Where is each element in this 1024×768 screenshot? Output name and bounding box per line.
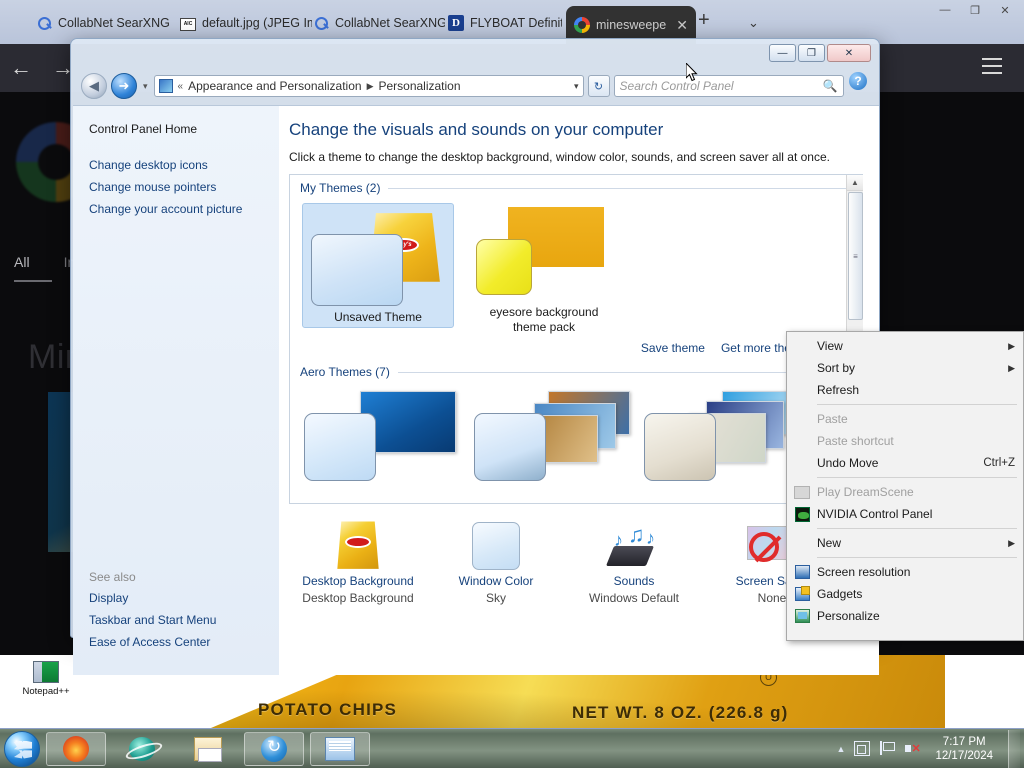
ctx-play-dreamscene: Play DreamScene	[787, 481, 1023, 503]
breadcrumb-personalization[interactable]: Personalization	[378, 79, 460, 93]
ctx-label: Screen resolution	[817, 565, 1015, 579]
see-also-display[interactable]: Display	[89, 591, 279, 605]
aero-themes-header: Aero Themes (7)	[290, 359, 863, 381]
my-themes-header: My Themes (2)	[290, 175, 863, 197]
theme-eyesore[interactable]: eyesore background theme pack	[468, 203, 620, 335]
ctx-label: Personalize	[817, 609, 1015, 623]
ctx-paste: Paste	[787, 408, 1023, 430]
tab-title: FLYBOAT Definition	[470, 16, 562, 30]
desktop-icon-notepadpp[interactable]: Notepad++	[16, 661, 76, 697]
monitor-icon	[787, 562, 817, 582]
screen: CollabNet SearXNG AIC default.jpg (JPEG …	[0, 0, 1024, 768]
search-icon	[313, 15, 329, 31]
my-themes-row: Lay's Unsaved Theme	[290, 197, 863, 335]
no-icon	[787, 409, 817, 429]
ctx-refresh[interactable]: Refresh	[787, 379, 1023, 401]
back-button[interactable]: ◀	[81, 73, 107, 99]
forward-button[interactable]: ➜	[111, 73, 137, 99]
option-value: Desktop Background	[289, 591, 427, 605]
aero-themes-row	[290, 381, 863, 485]
clock[interactable]: 7:17 PM 12/17/2024	[929, 735, 999, 763]
chip-bag-icon	[289, 518, 427, 574]
close-icon[interactable]: ✕	[676, 17, 688, 34]
theme-thumbnail	[468, 203, 620, 303]
window-preview	[476, 239, 532, 295]
no-icon	[787, 358, 817, 378]
nav-change-desktop-icons[interactable]: Change desktop icons	[89, 158, 279, 172]
divider	[398, 372, 853, 373]
ctx-new[interactable]: New ▶	[787, 532, 1023, 554]
no-icon	[787, 380, 817, 400]
ctx-label: New	[817, 536, 1002, 550]
control-panel-icon	[159, 79, 173, 93]
control-panel-icon	[325, 737, 355, 761]
gadgets-icon	[787, 584, 817, 604]
tab-underline	[14, 280, 52, 282]
window-preview	[304, 413, 376, 481]
control-panel-window-controls: — ❐ ✕	[769, 44, 871, 62]
option-window-color[interactable]: Window Color Sky	[427, 518, 565, 605]
maximize-button[interactable]: ❐	[966, 2, 984, 18]
desktop-context-menu: View ▶ Sort by ▶ Refresh Paste Paste sho…	[786, 331, 1024, 641]
theme-actions: Save theme Get more themes online	[290, 335, 863, 359]
new-tab-button[interactable]: +	[698, 12, 710, 28]
taskbar-button-ie[interactable]	[112, 732, 172, 766]
recent-pages-icon[interactable]: ▾	[141, 81, 150, 92]
personalize-icon	[787, 606, 817, 626]
ctx-paste-shortcut: Paste shortcut	[787, 430, 1023, 452]
ctx-label: Refresh	[817, 383, 1015, 397]
aero-themes-label: Aero Themes (7)	[300, 365, 390, 379]
taskbar-button-sync[interactable]	[244, 732, 304, 766]
ctx-screen-resolution[interactable]: Screen resolution	[787, 561, 1023, 583]
scrollbar-thumb[interactable]: ≡	[848, 192, 863, 320]
option-sounds[interactable]: ♪ ♫ ♪ Sounds Windows Default	[565, 518, 703, 605]
ctx-undo-move[interactable]: Undo Move Ctrl+Z	[787, 452, 1023, 474]
taskbar-button-control-panel[interactable]	[310, 732, 370, 766]
minimize-button[interactable]: —	[769, 44, 796, 62]
ctx-label: NVIDIA Control Panel	[817, 507, 1015, 521]
breadcrumb-separator-icon: ▶	[367, 81, 374, 92]
window-preview	[644, 413, 716, 481]
theme-thumbnail: Lay's	[303, 208, 455, 308]
mouse-cursor	[686, 63, 698, 82]
submenu-arrow-icon: ▶	[1008, 538, 1015, 549]
theme-unsaved[interactable]: Lay's Unsaved Theme	[302, 203, 454, 335]
nav-change-account-picture[interactable]: Change your account picture	[89, 202, 279, 216]
aero-theme-windows7[interactable]	[304, 389, 456, 485]
page-subtitle: Click a theme to change the desktop back…	[289, 150, 863, 164]
network-icon[interactable]	[854, 741, 870, 756]
nav-change-mouse-pointers[interactable]: Change mouse pointers	[89, 180, 279, 194]
search-icon: 🔍	[823, 79, 838, 93]
ctx-label: Gadgets	[817, 587, 1015, 601]
no-icon	[787, 431, 817, 451]
tab-all[interactable]: All	[14, 254, 30, 270]
breadcrumb-appearance[interactable]: Appearance and Personalization	[188, 79, 361, 93]
back-icon[interactable]: ←	[0, 57, 42, 79]
option-title[interactable]: Desktop Background	[289, 574, 427, 588]
control-panel-left-nav: Control Panel Home Change desktop icons …	[73, 106, 279, 675]
ctx-label: Paste	[817, 412, 1015, 426]
search-icon	[36, 15, 52, 31]
close-button[interactable]: ✕	[827, 44, 871, 62]
tab-title: minesweeper	[596, 18, 666, 32]
close-button[interactable]: ✕	[996, 2, 1014, 18]
help-icon[interactable]: ?	[849, 72, 867, 90]
notepadpp-icon	[33, 661, 59, 683]
theme-name: eyesore background theme pack	[468, 303, 620, 335]
maximize-button[interactable]: ❐	[798, 44, 825, 62]
theme-name: Unsaved Theme	[303, 308, 453, 325]
see-also-header: See also	[89, 570, 279, 584]
aero-theme-characters[interactable]	[644, 389, 796, 485]
option-value: Windows Default	[565, 591, 703, 605]
nvidia-icon	[787, 504, 817, 524]
submenu-arrow-icon: ▶	[1008, 341, 1015, 352]
see-also-section: See also Display Taskbar and Start Menu …	[89, 570, 279, 657]
save-theme-link[interactable]: Save theme	[641, 341, 705, 355]
system-tray: ▲ 7:17 PM 12/17/2024	[837, 730, 1024, 768]
browser-tab-2[interactable]: AIC default.jpg (JPEG Image)	[172, 8, 320, 38]
search-input[interactable]: Search Control Panel 🔍	[614, 75, 844, 97]
ctx-label: Undo Move	[817, 456, 983, 470]
option-desktop-background[interactable]: Desktop Background Desktop Background	[289, 518, 427, 605]
desktop-icon-label: Notepad++	[21, 686, 70, 697]
start-button[interactable]	[4, 731, 40, 767]
ctx-label: Paste shortcut	[817, 434, 1015, 448]
chevron-down-icon[interactable]: ▾	[574, 81, 579, 92]
wallpaper-product-text: POTATO CHIPS	[258, 700, 397, 720]
tab-title: default.jpg (JPEG Image)	[202, 16, 312, 30]
ctx-sort-by[interactable]: Sort by ▶	[787, 357, 1023, 379]
option-title[interactable]: Sounds	[565, 574, 703, 588]
ctx-nvidia-control-panel[interactable]: NVIDIA Control Panel	[787, 503, 1023, 525]
dictionary-icon: D	[448, 15, 464, 31]
clock-time: 7:17 PM	[935, 735, 993, 749]
window-color-icon	[427, 518, 565, 574]
no-icon	[787, 453, 817, 473]
taskbar: ▲ 7:17 PM 12/17/2024	[0, 728, 1024, 768]
control-panel-content: Control Panel Home Change desktop icons …	[73, 105, 879, 675]
address-bar[interactable]: « Appearance and Personalization ▶ Perso…	[154, 75, 584, 97]
nav-control-panel-home[interactable]: Control Panel Home	[89, 122, 279, 136]
window-preview	[311, 234, 403, 306]
ctx-label: Play DreamScene	[817, 485, 1015, 499]
menu-separator	[817, 528, 1017, 529]
ctx-label: Sort by	[817, 361, 1002, 375]
page-title: Change the visuals and sounds on your co…	[289, 120, 863, 140]
refresh-button[interactable]: ↻	[588, 75, 610, 97]
personalization-options-row: Desktop Background Desktop Background Wi…	[289, 504, 863, 605]
dreamscene-icon	[787, 482, 817, 502]
browser-tab-1[interactable]: CollabNet SearXNG	[28, 8, 178, 38]
internet-explorer-icon	[129, 737, 155, 761]
see-also-ease-of-access[interactable]: Ease of Access Center	[89, 635, 279, 649]
menu-separator	[817, 477, 1017, 478]
wallpaper-weight-text: NET WT. 8 OZ. (226.8 g)	[572, 703, 789, 723]
option-title[interactable]: Window Color	[427, 574, 565, 588]
firefox-icon	[63, 736, 89, 762]
taskbar-button-explorer[interactable]	[178, 732, 238, 766]
menu-separator	[817, 404, 1017, 405]
taskbar-button-firefox[interactable]	[46, 732, 106, 766]
ctx-view[interactable]: View ▶	[787, 335, 1023, 357]
tab-title: CollabNet SearXNG	[335, 16, 445, 30]
explorer-icon	[194, 737, 222, 761]
aero-theme-architecture[interactable]	[474, 389, 626, 485]
menu-icon[interactable]	[982, 58, 1002, 74]
control-panel-nav-row: ◀ ➜ ▾ « Appearance and Personalization ▶…	[81, 71, 871, 101]
no-icon	[787, 533, 817, 553]
control-panel-titlebar[interactable]: — ❐ ✕	[71, 39, 879, 67]
browser-window-controls: — ❐ ✕	[936, 2, 1014, 18]
ctx-label: View	[817, 339, 1002, 353]
menu-separator	[817, 557, 1017, 558]
window-preview	[474, 413, 546, 481]
submenu-arrow-icon: ▶	[1008, 363, 1015, 374]
browser-tab-4[interactable]: D FLYBOAT Definition	[440, 8, 570, 38]
action-center-flag-icon[interactable]	[879, 741, 895, 756]
tab-title: CollabNet SearXNG	[58, 16, 170, 30]
clock-date: 12/17/2024	[935, 749, 993, 763]
themes-panel: My Themes (2) Lay's	[289, 174, 863, 504]
aic-icon: AIC	[180, 18, 196, 31]
show-desktop-button[interactable]	[1008, 730, 1020, 768]
sync-icon	[261, 736, 287, 762]
no-icon	[787, 336, 817, 356]
see-also-taskbar-start-menu[interactable]: Taskbar and Start Menu	[89, 613, 279, 627]
volume-muted-icon[interactable]	[904, 741, 920, 756]
browser-tab-3[interactable]: CollabNet SearXNG	[305, 8, 453, 38]
ctx-accelerator: Ctrl+Z	[983, 457, 1015, 469]
show-hidden-icons-icon[interactable]: ▲	[837, 744, 846, 754]
breadcrumb-overflow[interactable]: «	[178, 81, 184, 92]
control-panel-window: — ❐ ✕ ◀ ➜ ▾ « Appearance and Personaliza…	[70, 38, 880, 638]
google-icon	[574, 17, 590, 33]
my-themes-label: My Themes (2)	[300, 181, 380, 195]
ctx-personalize[interactable]: Personalize	[787, 605, 1023, 627]
option-value: Sky	[427, 591, 565, 605]
scroll-up-icon[interactable]: ▲	[847, 175, 863, 191]
search-placeholder: Search Control Panel	[620, 79, 734, 93]
ctx-gadgets[interactable]: Gadgets	[787, 583, 1023, 605]
divider	[388, 188, 853, 189]
minimize-button[interactable]: —	[936, 2, 954, 18]
sounds-icon: ♪ ♫ ♪	[565, 518, 703, 574]
chevron-down-icon[interactable]: ⌄	[748, 15, 759, 31]
